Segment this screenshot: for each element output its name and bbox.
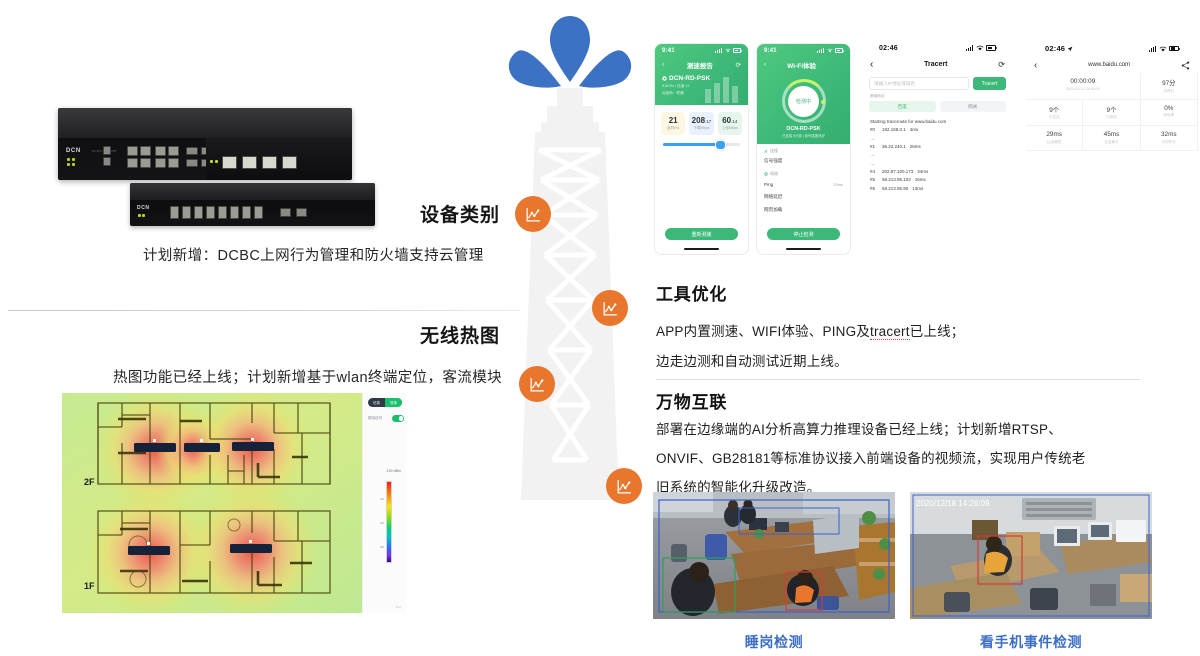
chart-icon	[601, 299, 620, 318]
hop-placeholder: …	[870, 135, 878, 143]
cellular-icon	[817, 48, 824, 53]
tracert-preset-gateway[interactable]: 网关	[940, 101, 1007, 112]
cellular-icon	[1149, 46, 1156, 52]
slide-canvas: DCN DCRS-5750-28T DCN	[0, 0, 1200, 656]
signal-petals	[509, 16, 631, 88]
share-icon[interactable]	[1181, 61, 1190, 70]
history-icon[interactable]: ⟳	[998, 60, 1005, 69]
cell-label: 丢包率	[1142, 113, 1196, 118]
tracert-hop-0: #0 192.168.0.1 4ms	[870, 126, 1007, 134]
cell-value: 97分	[1142, 78, 1196, 87]
wifi-navbar: ‹ Wi-Fi体验	[757, 57, 850, 72]
speedtest-statusbar: 9:41	[655, 44, 748, 57]
speedtest-stats: 21 延时ms 208.17 下载Mbps 60.14 上传Mbps	[655, 105, 748, 138]
stat-upload-unit: .14	[731, 119, 737, 124]
stat-upload-label: 上传Mbps	[720, 126, 740, 131]
tracert-preset-baidu[interactable]: 百度	[869, 101, 936, 112]
heatmap-scale-label: 1 m	[396, 605, 401, 609]
cell-label: 往返最短	[1027, 140, 1081, 145]
speedtest-slider[interactable]	[663, 143, 740, 146]
heatmap-legend-tick-2: -60	[380, 521, 384, 525]
wifi-group-2-text: 网络	[770, 171, 778, 177]
wifi-row-signal-label: 信号强度	[764, 158, 782, 164]
stat-upload-value: 60	[722, 116, 731, 125]
wifi-ring-dot	[821, 100, 825, 104]
tracert-hop-6: #5 58.213.95.102 16ms	[870, 176, 1007, 184]
wifi-row-latency-label: 网络延迟	[764, 194, 782, 200]
chart-badge-1[interactable]	[515, 196, 551, 232]
stat-download-value: 208	[692, 116, 705, 125]
wifi-title: Wi-Fi体验	[787, 60, 816, 70]
tools-line-1-a: APP内置测速、WIFI体验、PING及	[656, 324, 870, 339]
baidu-statusbar: 02:46	[1026, 40, 1198, 57]
svg-text:2F: 2F	[84, 477, 95, 487]
stat-download: 208.17 下载Mbps	[689, 112, 713, 136]
section-title-device-category: 设备类别	[420, 200, 500, 227]
tower-graphic	[495, 0, 645, 530]
battery-icon	[986, 45, 996, 51]
cellular-icon	[715, 48, 722, 53]
baidu-title: www.baidu.com	[1088, 62, 1130, 68]
stat-download-unit: .17	[705, 119, 711, 124]
device-brand-label-2: DCN	[137, 205, 150, 211]
wifi-icon	[725, 48, 731, 53]
section-subtitle-wireless-heatmap: 热图功能已经上线；计划新增基于wlan终端定位，客流模块	[113, 366, 502, 387]
photo-sleep-detection	[653, 492, 895, 619]
phone-tracert: 02:46 ‹ Tracert ⟳ 请输入IP地址或域名 Tr	[860, 40, 1015, 258]
baidu-cell-duration: 00:00:09 2023-09-21 14:26:09	[1026, 73, 1141, 100]
wifi-ssid: DCN-RD-PSK	[757, 126, 850, 133]
device-brand-label-1: DCN	[66, 148, 81, 154]
section-title-wireless-heatmap: 无线热图	[420, 321, 500, 348]
baidu-cell-min: 29ms 往返最短	[1026, 126, 1083, 151]
cell-value: 32ms	[1142, 131, 1196, 138]
wifi-icon	[827, 48, 833, 53]
wifi-group-1-label: 连接	[757, 144, 850, 155]
phone-baidu-result: 02:46 ‹ www.baidu.com	[1026, 40, 1198, 200]
chart-icon	[524, 205, 543, 224]
wifi-ssid-sub: 已连接 5分钟 | 信号强度良好	[757, 133, 850, 144]
heatmap-signal-switch-row[interactable]: 模拟信号	[368, 415, 404, 422]
wifi-row-latency[interactable]: 网络延迟	[757, 190, 850, 203]
hop-ms: 26ms	[910, 143, 921, 151]
tracert-hop-2: #1 36.22.240.1 26ms	[870, 143, 1007, 151]
tracert-input-row: 请输入IP地址或域名 Tracert	[860, 72, 1015, 93]
home-indicator	[786, 248, 821, 250]
back-icon[interactable]: ‹	[870, 59, 873, 70]
hop-ip: 36.22.240.1	[882, 143, 906, 151]
section-subtitle-device-category: 计划新增：DCBC上网行为管理和防火墙支持云管理	[143, 244, 484, 265]
heatmap-mode-sim[interactable]: 仿真	[368, 398, 385, 407]
chart-badge-2[interactable]	[592, 290, 628, 326]
hop-ip: 202.97.100.173	[882, 168, 913, 176]
home-indicator	[684, 248, 719, 250]
wifi-row-ping-value: 22ms	[833, 182, 843, 187]
tools-line-2: 边走边测和自动测试近期上线。	[656, 350, 848, 370]
wireless-heatmap-image: 2F 1F 仿真 现场 模拟信号 -100 dBm -40 -60 -80 1 …	[62, 393, 406, 613]
baidu-result-grid: 00:00:09 2023-09-21 14:26:09 97分 总得分 9个 …	[1026, 73, 1198, 151]
cell-value: 45ms	[1084, 131, 1138, 138]
cell-value: 0%	[1142, 105, 1196, 112]
wifi-row-ping-label: Ping	[764, 182, 773, 187]
hop-index: #1	[870, 143, 878, 151]
wifi-progress-ring: 检测中	[782, 79, 826, 123]
heatmap-legend-top: -100 dBm	[385, 469, 401, 473]
tracert-title: Tracert	[924, 61, 947, 68]
section-title-tools: 工具优化	[656, 280, 727, 305]
retest-button[interactable]: 重新测速	[665, 228, 738, 240]
tracert-presets: 百度 网关	[860, 101, 1015, 116]
hop-ip: 58.213.95.90	[882, 185, 908, 193]
cell-value: 00:00:09	[1027, 78, 1139, 85]
svg-text:1F: 1F	[84, 581, 95, 591]
bar-decoration-icon	[703, 73, 745, 103]
hop-index: #4	[870, 168, 878, 176]
tracert-navbar: ‹ Tracert ⟳	[860, 56, 1015, 72]
wifi-group-1-text: 连接	[770, 148, 778, 154]
hop-ms: 16ms	[915, 176, 926, 184]
tracert-run-button[interactable]: Tracert	[973, 77, 1006, 90]
cell-label: 已发送	[1027, 115, 1081, 120]
iot-line-1: 部署在边缘端的AI分析高算力推理设备已经上线；计划新增RTSP、	[656, 418, 1062, 438]
tracert-input[interactable]: 请输入IP地址或域名	[869, 77, 969, 90]
cell-value: 9个	[1027, 105, 1081, 114]
cell-label: 往返最长	[1084, 140, 1138, 145]
heatmap-control-panel: 仿真 现场 模拟信号 -100 dBm -40 -60 -80 1 m	[362, 393, 406, 613]
hop-ms: 13ms	[912, 185, 923, 193]
stat-upload: 60.14 上传Mbps	[718, 112, 742, 136]
heatmap-signal-switch[interactable]	[392, 415, 404, 422]
tracert-hop-3: …	[870, 151, 1007, 159]
cellular-icon	[966, 45, 973, 51]
hop-index: #0	[870, 126, 878, 134]
cell-label: 总得分	[1142, 89, 1196, 94]
battery-icon	[835, 48, 843, 53]
hop-ip: 58.213.95.102	[882, 176, 911, 184]
tools-line-1: APP内置测速、WIFI体验、PING及tracert已上线；	[656, 320, 965, 340]
hop-index: #5	[870, 176, 878, 184]
heatmap-mode-live[interactable]: 现场	[385, 398, 402, 407]
status-time: 02:46	[879, 45, 898, 52]
speedtest-title: 测速报告	[687, 60, 713, 70]
cell-value: 9个	[1084, 105, 1138, 114]
tools-line-1-b: 已上线；	[910, 324, 965, 339]
tracert-presets-label: 常用地址	[860, 93, 1015, 101]
photo-caption-phone: 看手机事件检测	[910, 632, 1152, 652]
stat-latency: 21 延时ms	[661, 112, 685, 136]
chart-badge-4[interactable]	[606, 468, 642, 504]
baidu-cell-max: 45ms 往返最长	[1083, 126, 1140, 151]
tracert-hop-1: …	[870, 135, 1007, 143]
wifi-icon	[1159, 46, 1167, 52]
wifi-dot-icon	[662, 76, 667, 81]
back-icon[interactable]: ‹	[662, 61, 664, 68]
cell-label: 平均时长	[1142, 140, 1196, 145]
network-switch-photo-large: DCN DCRS-5750-28T	[58, 108, 352, 180]
signal-icon	[764, 149, 768, 153]
speedtest-header: 9:41 ‹ 测速报告 ⟳	[655, 44, 748, 105]
tracert-log: Starting traceroute for www.baidu.com #0…	[860, 116, 1015, 195]
photo-timestamp-overlay: 2020/12/18 14:26:09	[916, 499, 990, 508]
heatmap-legend-tick-1: -40	[380, 497, 384, 501]
wifi-group-2-label: 网络	[757, 168, 850, 179]
wifi-row-ping[interactable]: Ping 22ms	[757, 178, 850, 190]
globe-icon	[764, 172, 768, 176]
tracert-hop-5: #4 202.97.100.173 34ms	[870, 168, 1007, 176]
photo-phone-usage-detection: 2020/12/18 14:26:09	[910, 492, 1152, 619]
section-title-iot: 万物互联	[656, 388, 727, 413]
heatmap-mode-toggle[interactable]: 仿真 现场	[368, 398, 402, 407]
heatmap-colorbar	[386, 481, 392, 563]
hop-ms: 4ms	[910, 126, 919, 134]
photo-caption-sleep: 睡岗检测	[653, 632, 895, 652]
battery-icon	[1169, 46, 1179, 52]
hop-ip: 192.168.0.1	[882, 126, 906, 134]
baidu-cell-sent: 9个 已发送	[1026, 100, 1083, 127]
cell-label: 2023-09-21 14:26:09	[1027, 87, 1139, 91]
baidu-navbar: ‹ www.baidu.com	[1026, 57, 1198, 73]
cell-label: 已接收	[1084, 115, 1138, 120]
heatmap-legend-tick-3: -80	[380, 545, 384, 549]
location-icon	[1067, 46, 1073, 52]
heatmap-signal-switch-label: 模拟信号	[368, 416, 382, 421]
chart-badge-3[interactable]	[519, 366, 555, 402]
wifi-row-pageload-label: 网页加载	[764, 207, 782, 213]
wifi-ring-text: 检测中	[788, 86, 819, 117]
back-icon[interactable]: ‹	[1034, 60, 1037, 71]
divider-left	[8, 310, 520, 311]
baidu-cell-score: 97分 总得分	[1141, 73, 1198, 100]
phone-speedtest: 9:41 ‹ 测速报告 ⟳	[655, 44, 748, 254]
status-time: 9:41	[764, 48, 777, 54]
status-time: 02:46	[1045, 44, 1065, 53]
hop-placeholder: …	[870, 160, 878, 168]
iot-line-2: ONVIF、GB28181等标准协议接入前端设备的视频流，实现用户传统老	[656, 447, 1086, 467]
tracert-hop-4: …	[870, 160, 1007, 168]
stat-download-label: 下载Mbps	[691, 126, 711, 131]
chart-icon	[615, 477, 634, 496]
tools-underlined-word: tracert	[870, 324, 910, 340]
stat-latency-label: 延时ms	[663, 126, 683, 131]
wifi-row-pageload[interactable]: 网页加载	[757, 203, 850, 216]
wifi-icon	[976, 45, 984, 51]
baidu-cell-received: 9个 已接收	[1083, 100, 1140, 127]
divider-right	[656, 379, 1140, 380]
stop-test-button[interactable]: 停止检测	[767, 228, 840, 240]
hop-ms: 34ms	[917, 168, 928, 176]
tracert-statusbar: 02:46	[860, 40, 1015, 56]
speedtest-navbar: ‹ 测速报告 ⟳	[655, 57, 748, 72]
cell-value: 29ms	[1027, 131, 1081, 138]
back-icon[interactable]: ‹	[764, 61, 766, 68]
baidu-cell-loss: 0% 丢包率	[1141, 100, 1198, 127]
phone-wifi-experience: 9:41 ‹ Wi-Fi体验	[757, 44, 850, 254]
wifi-row-signal[interactable]: 信号强度	[757, 155, 850, 168]
status-time: 9:41	[662, 48, 675, 54]
battery-icon	[733, 48, 741, 53]
stat-latency-value: 21	[669, 116, 678, 125]
tracert-log-header: Starting traceroute for www.baidu.com	[870, 118, 1007, 126]
hop-index: #6	[870, 185, 878, 193]
tracert-hop-7: #6 58.213.95.90 13ms	[870, 185, 1007, 193]
wifi-statusbar: 9:41	[757, 44, 850, 57]
chart-icon	[528, 375, 547, 394]
baidu-cell-avg: 32ms 平均时长	[1141, 126, 1198, 151]
history-icon[interactable]: ⟳	[736, 61, 741, 69]
wifi-header: 9:41 ‹ Wi-Fi体验	[757, 44, 850, 144]
network-switch-photo-small: DCN	[130, 183, 375, 226]
tracert-input-placeholder: 请输入IP地址或域名	[874, 81, 915, 87]
hop-placeholder: …	[870, 151, 878, 159]
